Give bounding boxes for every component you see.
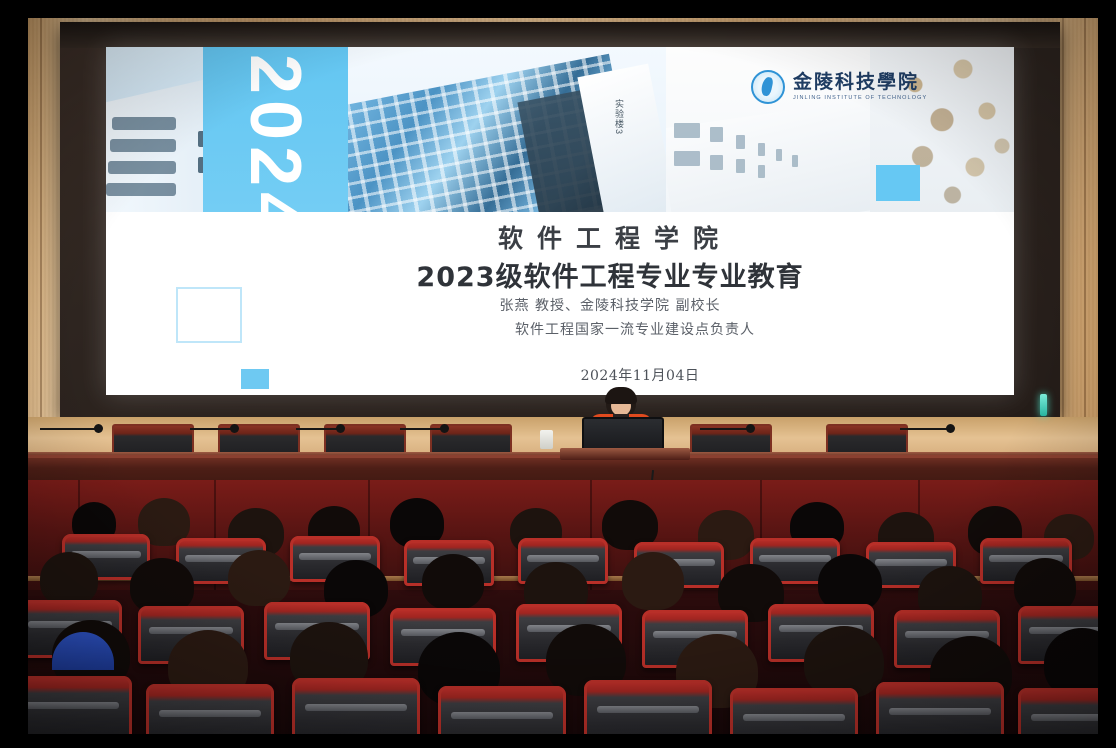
- building-window: [710, 127, 723, 142]
- projected-slide: 实验楼3: [106, 47, 1014, 395]
- auditorium-seat: [292, 678, 420, 734]
- microphone-head-icon: [94, 424, 103, 433]
- slide-presenter-role: 软件工程国家一流专业建设点负责人: [106, 319, 1014, 339]
- building-window: [792, 155, 798, 167]
- building-window: [736, 159, 745, 173]
- year-label: 2024: [234, 54, 316, 212]
- slide-department-title: 软件工程学院: [106, 219, 1014, 255]
- building-window: [758, 143, 765, 156]
- microphone-head-icon: [746, 424, 755, 433]
- auditorium-seat: [18, 676, 132, 734]
- logo-text-block: 金陵科技學院 JINLING INSTITUTE OF TECHNOLOGY: [793, 73, 927, 101]
- building-sign-label: 实验楼3: [610, 99, 624, 135]
- microphone-head-icon: [440, 424, 449, 433]
- building-window: [674, 123, 700, 138]
- building-window: [736, 135, 745, 149]
- table-microphone: [900, 428, 950, 430]
- year-accent-panel: 2024: [203, 47, 348, 212]
- audience-head: [622, 552, 684, 610]
- slide-photo-band: 实验楼3: [106, 47, 1014, 212]
- audience-seating-area: [18, 480, 1098, 734]
- table-microphone: [190, 428, 234, 430]
- building-window: [776, 149, 782, 161]
- podium-front-edge: [560, 448, 690, 460]
- building-window: [674, 151, 700, 166]
- building-window: [710, 155, 723, 170]
- auditorium-seat: [438, 686, 566, 734]
- lecture-hall-photo: 实验楼3: [0, 0, 1116, 748]
- microphone-head-icon: [946, 424, 955, 433]
- blue-square-accent: [876, 165, 920, 201]
- auditorium-seat: [730, 688, 858, 734]
- slide-date: 2024年11月04日: [106, 365, 1014, 385]
- presenter-hair: [605, 387, 637, 404]
- logo-chinese-name: 金陵科技學院: [793, 73, 927, 92]
- green-status-led-icon: [1040, 394, 1047, 416]
- auditorium-interior: 实验楼3: [0, 0, 1116, 748]
- auditorium-seat: [146, 684, 274, 734]
- slide-presenter-line: 张燕 教授、金陵科技学院 副校长: [106, 295, 1014, 315]
- building-band: [112, 117, 176, 130]
- microphone-head-icon: [336, 424, 345, 433]
- table-microphone: [296, 428, 340, 430]
- slide-main-title: 2023级软件工程专业专业教育: [106, 255, 1014, 294]
- auditorium-seat: [1018, 688, 1098, 734]
- building-band: [108, 161, 176, 174]
- auditorium-seat: [876, 682, 1004, 734]
- building-band: [106, 183, 176, 196]
- table-microphone: [700, 428, 750, 430]
- audience-head: [422, 554, 484, 610]
- audience-head: [228, 550, 290, 606]
- audience-head: [40, 552, 98, 606]
- auditorium-seat: [584, 680, 712, 734]
- university-logo: 金陵科技學院 JINLING INSTITUTE OF TECHNOLOGY: [751, 70, 927, 104]
- water-cup: [540, 430, 553, 449]
- campus-building-center-image: 实验楼3: [344, 47, 674, 212]
- microphone-head-icon: [230, 424, 239, 433]
- table-microphone: [40, 428, 98, 430]
- table-microphone: [400, 428, 444, 430]
- building-window: [758, 165, 765, 178]
- building-band: [110, 139, 176, 152]
- university-seal-icon: [751, 70, 785, 104]
- logo-english-name: JINLING INSTITUTE OF TECHNOLOGY: [793, 95, 927, 101]
